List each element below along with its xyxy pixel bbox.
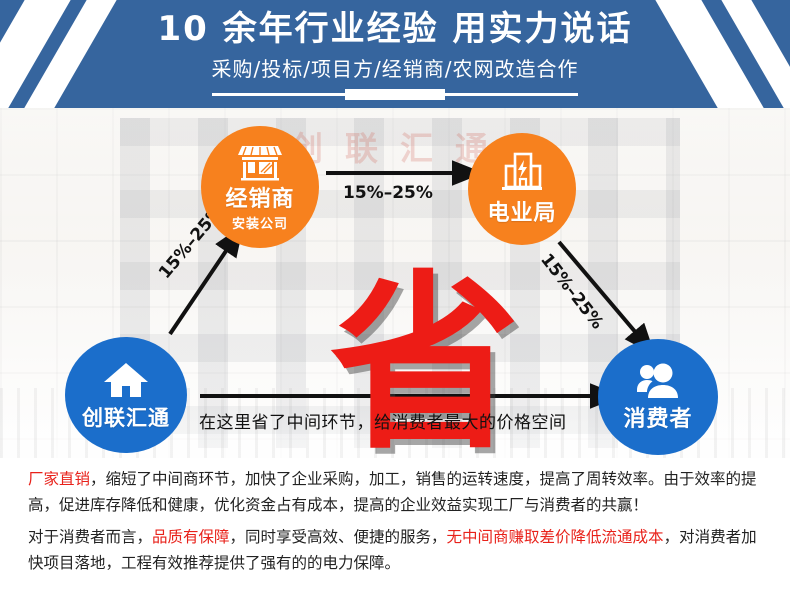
paragraph-two: 对于消费者而言，品质有保障，同时享受高效、便捷的服务，无中间商赚取差价降低流通成… xyxy=(28,524,766,576)
paragraph-two-mid: ，同时享受高效、便捷的服务， xyxy=(230,528,447,546)
flow-diagram: 创联汇通 省 15%–25% 15%–25% 15%–25% 在这里省了中间环节… xyxy=(0,108,790,458)
header-title: 10 余年行业经验 用实力说话 xyxy=(0,9,790,49)
node-power-bureau-label: 电业局 xyxy=(487,202,556,225)
description-section: 厂家直销，缩短了中间商环节，加快了企业采购，加工，销售的运转速度，提高了周转效率… xyxy=(0,458,790,602)
header-subtitle: 采购/投标/项目方/经销商/农网改造合作 xyxy=(0,56,790,82)
node-company-label: 创联汇通 xyxy=(82,407,170,429)
paragraph-two-highlight-nomiddleman: 无中间商赚取差价降低流通成本 xyxy=(447,528,664,546)
arrow-label-dealer-to-bureau: 15%–25% xyxy=(343,183,433,203)
node-consumer-label: 消费者 xyxy=(623,408,692,431)
paragraph-two-lead: 对于消费者而言， xyxy=(28,528,152,546)
users-icon xyxy=(634,362,682,404)
paragraph-one-highlight: 厂家直销 xyxy=(28,470,90,488)
paragraph-two-highlight-quality: 品质有保障 xyxy=(152,528,230,546)
node-dealer-sublabel: 安装公司 xyxy=(232,213,288,232)
paragraph-one: 厂家直销，缩短了中间商环节，加快了企业采购，加工，销售的运转速度，提高了周转效率… xyxy=(28,466,766,518)
header-divider-center xyxy=(345,89,445,100)
node-power-bureau[interactable]: 电业局 xyxy=(468,133,576,245)
arrow-label-company-to-consumer: 在这里省了中间环节，给消费者最大的价格空间 xyxy=(199,408,567,433)
header-banner: 10 余年行业经验 用实力说话 采购/投标/项目方/经销商/农网改造合作 xyxy=(0,0,790,108)
node-dealer[interactable]: 经销商 安装公司 xyxy=(201,126,319,248)
home-icon xyxy=(103,361,149,403)
promo-banner: 10 余年行业经验 用实力说话 采购/投标/项目方/经销商/农网改造合作 创联汇… xyxy=(0,0,790,602)
paragraph-one-text: ，缩短了中间商环节，加快了企业采购，加工，销售的运转速度，提高了周转效率。由于效… xyxy=(28,470,757,514)
shop-icon xyxy=(237,142,283,186)
node-company[interactable]: 创联汇通 xyxy=(65,337,187,453)
power-building-icon xyxy=(500,152,544,198)
node-consumer[interactable]: 消费者 xyxy=(598,339,718,455)
node-dealer-label: 经销商 xyxy=(225,188,294,211)
